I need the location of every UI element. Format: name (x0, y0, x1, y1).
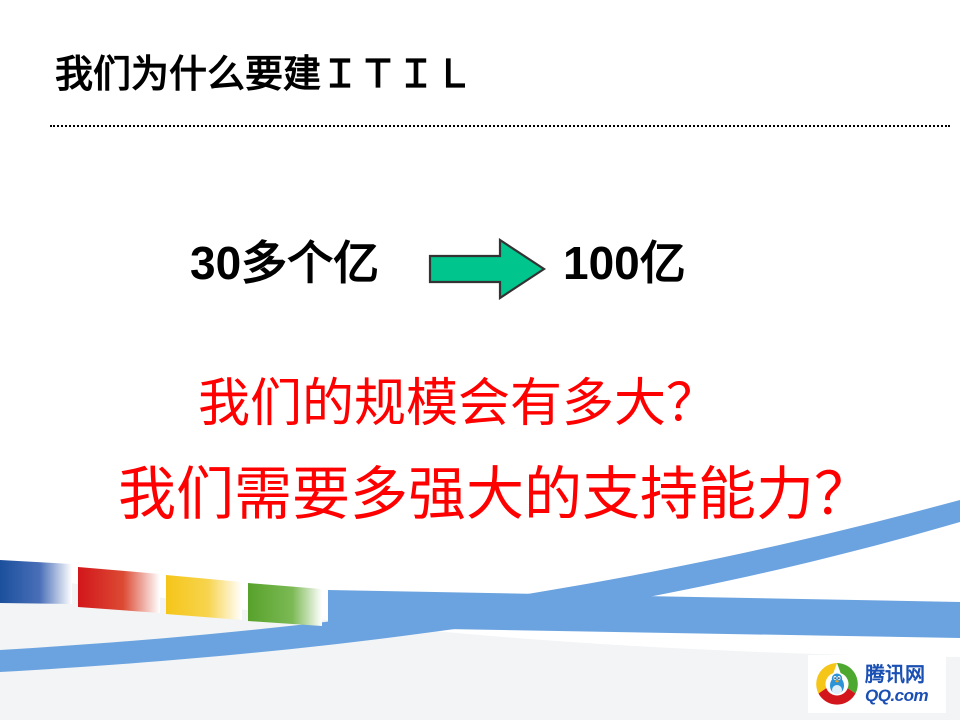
growth-row: 30多个亿 100亿 (0, 232, 960, 312)
tencent-logo: 腾讯网 QQ.com (808, 655, 946, 713)
question-line-1: 我们的规模会有多大？ (198, 378, 718, 430)
logo-chinese-text: 腾讯网 (865, 665, 928, 685)
growth-to-value: 100亿 (563, 232, 686, 294)
title-divider (50, 125, 950, 127)
logo-english-text: QQ.com (865, 687, 928, 704)
logo-text-block: 腾讯网 QQ.com (865, 665, 928, 704)
slide-canvas: 我们为什么要建ＩＴＩＬ 30多个亿 100亿 我们的规模会有多大？ 我们需要多强… (0, 0, 960, 720)
page-title: 我们为什么要建ＩＴＩＬ (55, 55, 473, 97)
growth-from-value: 30多个亿 (190, 232, 379, 294)
right-arrow-icon (428, 238, 546, 300)
question-line-2: 我们需要多强大的支持能力？ (118, 466, 872, 524)
tencent-penguin-icon (814, 661, 860, 707)
